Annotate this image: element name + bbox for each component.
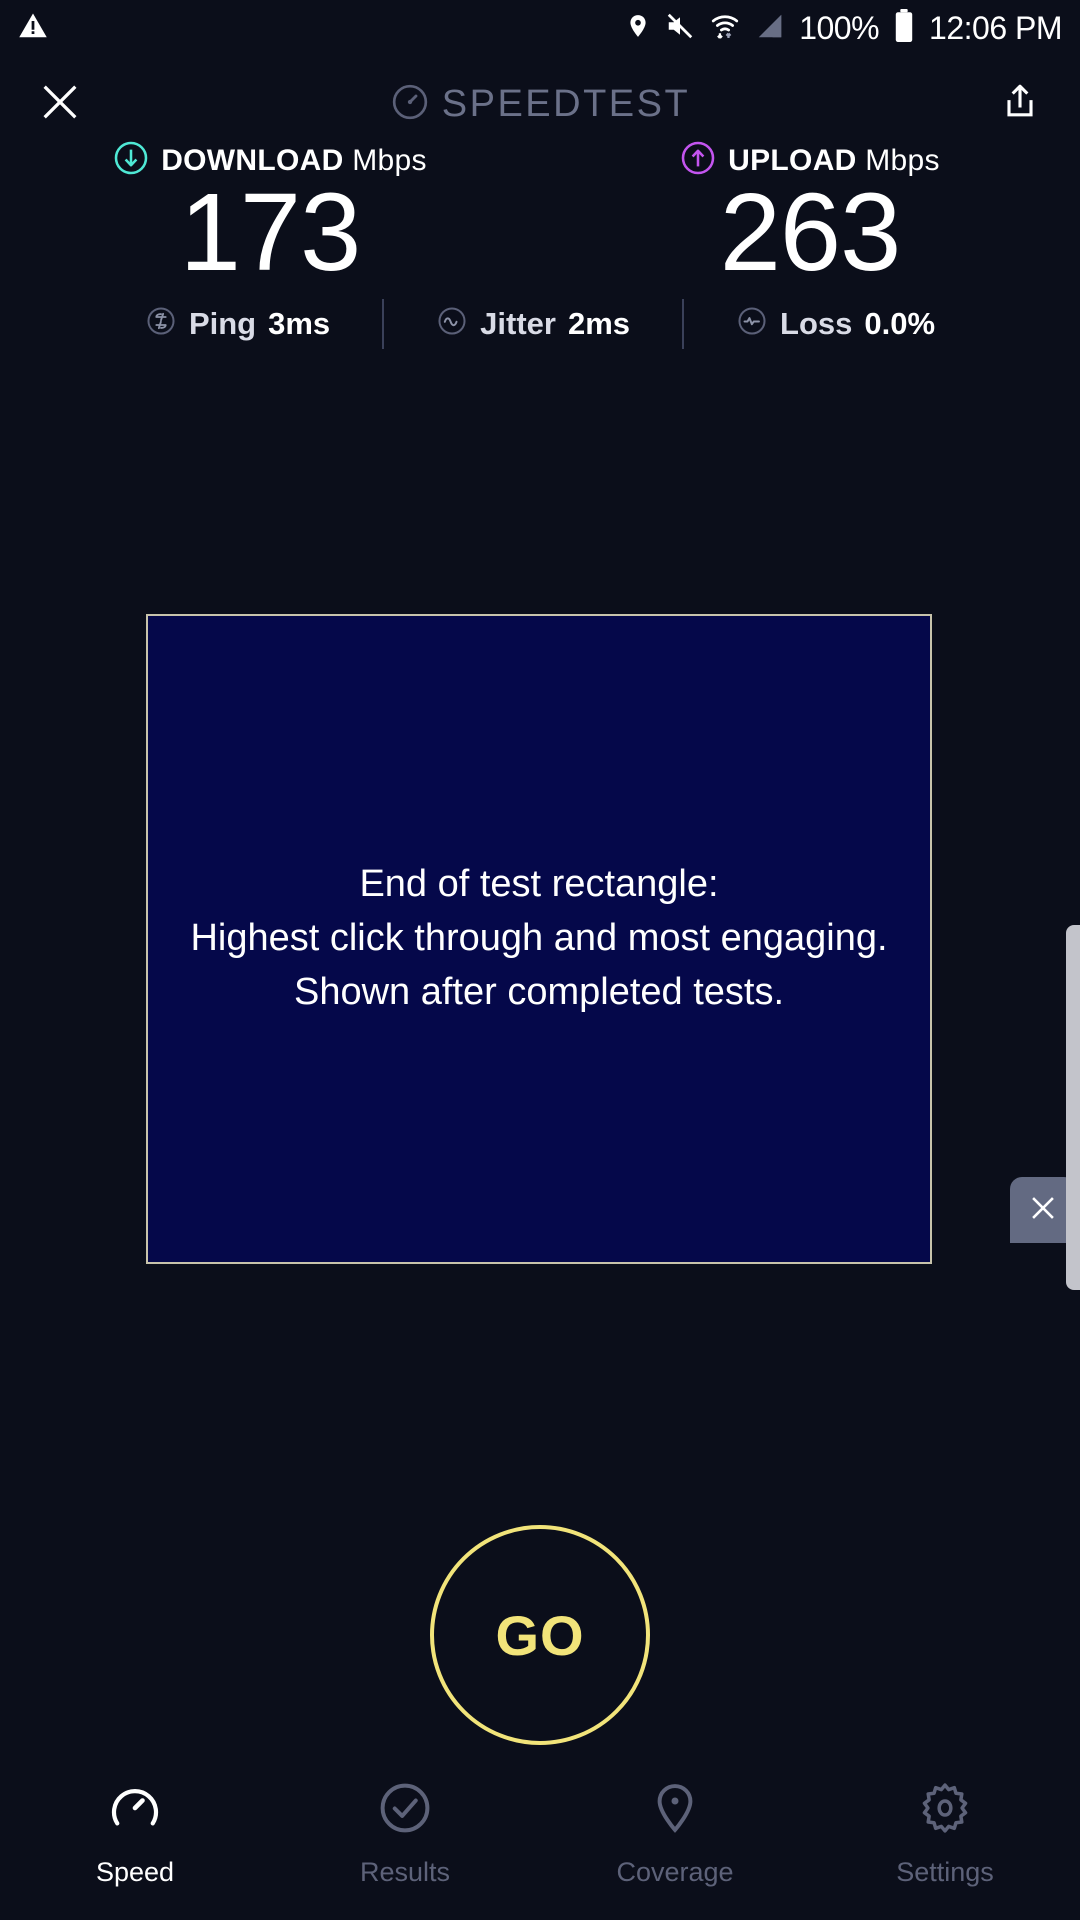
ad-line-3: Shown after completed tests.	[190, 966, 887, 1020]
go-button[interactable]: GO	[430, 1525, 650, 1745]
loss-metric: Loss 0.0%	[736, 305, 935, 342]
nav-label-coverage: Coverage	[616, 1857, 733, 1888]
location-pin-icon	[625, 11, 651, 46]
go-button-container: GO	[430, 1525, 650, 1745]
warning-triangle-icon	[18, 11, 48, 46]
check-circle-icon	[377, 1780, 433, 1841]
volume-muted-icon	[665, 11, 695, 46]
wifi-data-icon	[709, 10, 741, 47]
status-bar: 100% 12:06 PM	[0, 0, 1080, 56]
results-panel: DOWNLOAD Mbps 173 UPLOAD Mbps 263 P	[0, 140, 1080, 349]
bottom-navigation: Speed Results Coverage Settings	[0, 1770, 1080, 1920]
speedometer-icon	[107, 1780, 163, 1841]
nav-label-speed: Speed	[96, 1857, 174, 1888]
latency-metrics-row: Ping 3ms Jitter 2ms Loss 0.0%	[0, 299, 1080, 349]
nav-item-settings[interactable]: Settings	[810, 1780, 1080, 1888]
share-button[interactable]	[960, 56, 1080, 152]
close-app-button[interactable]	[0, 56, 120, 152]
speed-results-row: DOWNLOAD Mbps 173 UPLOAD Mbps 263	[0, 140, 1080, 291]
upload-result: UPLOAD Mbps 263	[540, 140, 1080, 291]
page-title: SPEEDTEST	[442, 83, 690, 126]
loss-label: Loss	[780, 306, 852, 342]
ping-icon	[145, 305, 177, 342]
page-scrollbar[interactable]	[1066, 925, 1080, 1290]
clock-label: 12:06 PM	[929, 10, 1062, 47]
share-icon	[998, 80, 1042, 129]
cell-signal-icon	[755, 11, 785, 46]
status-bar-right: 100% 12:06 PM	[625, 9, 1062, 48]
jitter-label: Jitter	[480, 306, 556, 342]
location-pin-icon	[647, 1780, 703, 1841]
jitter-icon	[436, 305, 468, 342]
download-result: DOWNLOAD Mbps 173	[0, 140, 540, 291]
ad-text: End of test rectangle: Highest click thr…	[190, 858, 887, 1020]
metrics-divider	[682, 299, 684, 349]
close-icon	[1026, 1191, 1060, 1230]
ping-metric: Ping 3ms	[145, 305, 330, 342]
upload-value: 263	[720, 175, 901, 291]
battery-percent-label: 100%	[799, 10, 879, 47]
advertisement-container: End of test rectangle: Highest click thr…	[146, 614, 932, 1264]
speedtest-app-screen: 100% 12:06 PM SPEEDTEST	[0, 0, 1080, 1920]
ad-line-1: End of test rectangle:	[190, 858, 887, 912]
nav-item-speed[interactable]: Speed	[0, 1780, 270, 1888]
nav-item-results[interactable]: Results	[270, 1780, 540, 1888]
jitter-value: 2ms	[568, 306, 630, 342]
app-bar: SPEEDTEST	[0, 56, 1080, 152]
loss-value: 0.0%	[864, 306, 935, 342]
app-title-block: SPEEDTEST	[120, 82, 960, 127]
nav-label-settings: Settings	[896, 1857, 994, 1888]
nav-item-coverage[interactable]: Coverage	[540, 1780, 810, 1888]
battery-full-icon	[893, 9, 915, 48]
status-bar-left	[18, 11, 48, 46]
upload-arrow-icon	[680, 140, 716, 181]
close-icon	[37, 79, 83, 130]
ad-banner[interactable]: End of test rectangle: Highest click thr…	[146, 614, 932, 1264]
download-arrow-icon	[113, 140, 149, 181]
go-button-label: GO	[495, 1603, 584, 1668]
jitter-metric: Jitter 2ms	[436, 305, 630, 342]
loss-icon	[736, 305, 768, 342]
ping-value: 3ms	[268, 306, 330, 342]
ping-label: Ping	[189, 306, 256, 342]
nav-label-results: Results	[360, 1857, 450, 1888]
speedometer-icon	[390, 82, 430, 127]
gear-icon	[917, 1780, 973, 1841]
download-value: 173	[180, 175, 361, 291]
metrics-divider	[382, 299, 384, 349]
ad-line-2: Highest click through and most engaging.	[190, 912, 887, 966]
